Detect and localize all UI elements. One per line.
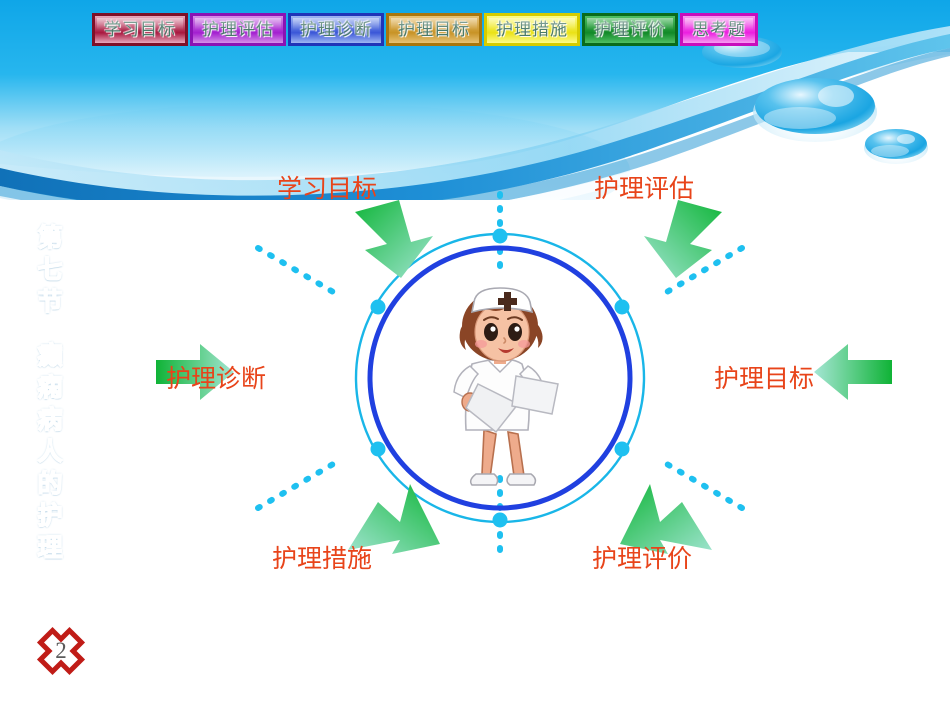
tab-label: 思考题	[692, 21, 746, 38]
topic-char: 人	[37, 436, 62, 468]
diagram-label-nursing-measures[interactable]: 护理措施	[272, 546, 372, 571]
tab-label: 护理目标	[398, 21, 470, 38]
section-char: 节	[37, 286, 62, 318]
section-char: 第	[37, 222, 62, 254]
section-vertical-title: 第 七 节 癫 痫 病 人 的 护 理	[28, 222, 72, 564]
tab-label: 护理诊断	[300, 21, 372, 38]
tab-nursing-evaluation[interactable]: 护理评价	[582, 13, 678, 46]
diagram-label-nursing-assessment[interactable]: 护理评估	[594, 176, 694, 201]
tab-nursing-assessment[interactable]: 护理评估	[190, 13, 286, 46]
diagram-label-nursing-goal[interactable]: 护理目标	[714, 366, 814, 391]
tab-learning-objectives[interactable]: 学习目标	[92, 13, 188, 46]
topic-char: 痫	[37, 372, 62, 404]
diagram-label-nursing-diagnosis[interactable]: 护理诊断	[166, 366, 266, 391]
navigation-tabbar[interactable]: 学习目标 护理评估 护理诊断 护理目标 护理措施 护理评价 思考题	[92, 13, 760, 46]
tab-nursing-diagnosis[interactable]: 护理诊断	[288, 13, 384, 46]
topic-char: 癫	[37, 340, 62, 372]
arrow-learning-objectives	[355, 200, 433, 278]
section-char: 七	[37, 254, 62, 286]
tab-label: 学习目标	[104, 21, 176, 38]
page-number: 2	[30, 620, 92, 682]
topic-char: 理	[37, 532, 62, 564]
tab-nursing-goal[interactable]: 护理目标	[386, 13, 482, 46]
diagram-label-nursing-evaluation[interactable]: 护理评价	[592, 546, 692, 571]
topic-char: 的	[37, 468, 62, 500]
tab-label: 护理评价	[594, 21, 666, 38]
water-droplet-large	[753, 78, 877, 142]
arrow-nursing-goal	[814, 344, 892, 400]
tab-nursing-measures[interactable]: 护理措施	[484, 13, 580, 46]
topic-char: 病	[37, 404, 62, 436]
tab-label: 护理评估	[202, 21, 274, 38]
nurse-character	[454, 288, 558, 485]
slide-canvas: 学习目标 护理评估 护理诊断 护理目标 护理措施 护理评价 思考题 第 七 节 …	[0, 0, 950, 713]
diagram-label-learning-objectives[interactable]: 学习目标	[277, 176, 377, 201]
topic-char: 护	[37, 500, 62, 532]
arrow-nursing-assessment	[644, 200, 722, 278]
tab-label: 护理措施	[496, 21, 568, 38]
tab-thinking-questions[interactable]: 思考题	[680, 13, 758, 46]
